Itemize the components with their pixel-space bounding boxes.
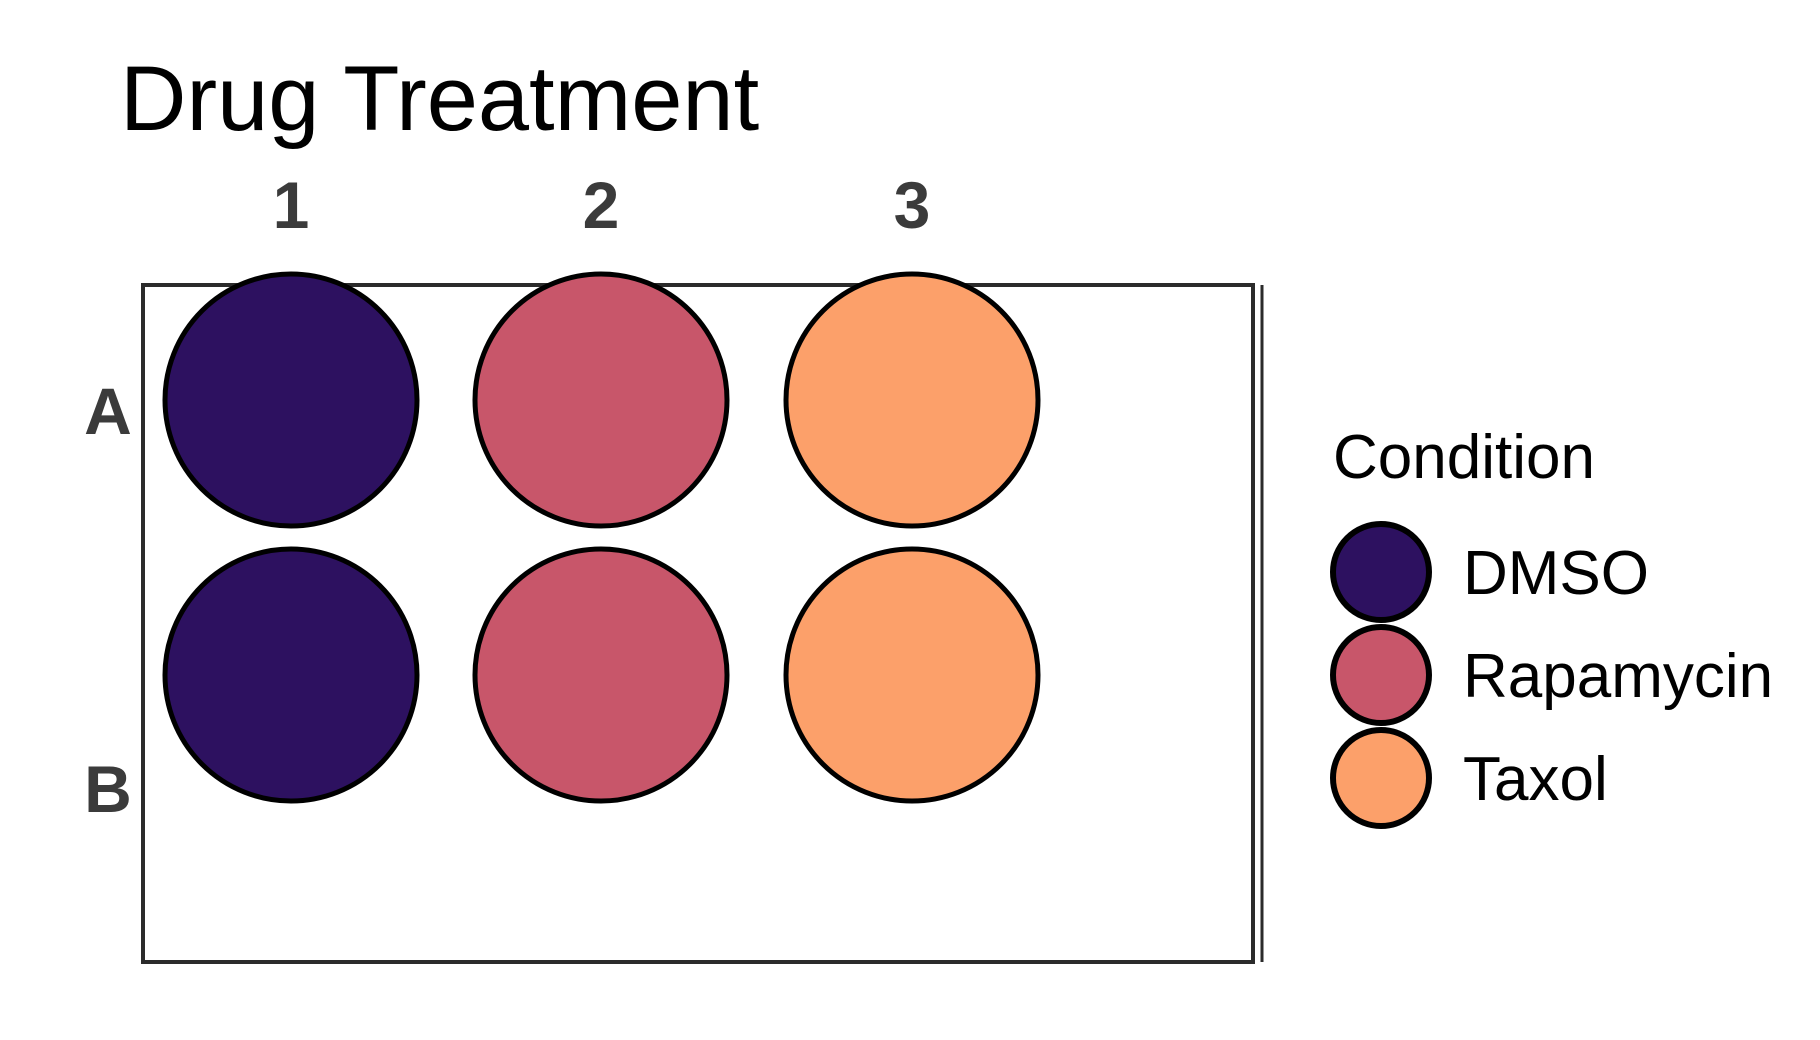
legend-item-rapamycin[interactable]: Rapamycin xyxy=(1333,627,1773,723)
plate-map-plot: Drug Treatment 1 2 3 A B Condition DMSO xyxy=(0,0,1820,1040)
legend-label-rapamycin: Rapamycin xyxy=(1463,642,1773,711)
well-a3[interactable] xyxy=(786,274,1038,526)
legend-item-taxol[interactable]: Taxol xyxy=(1333,730,1608,826)
legend-swatch-dmso xyxy=(1333,524,1429,620)
row-header-a: A xyxy=(84,374,132,448)
well-b1[interactable] xyxy=(165,549,417,801)
well-a1[interactable] xyxy=(165,274,417,526)
column-header-3: 3 xyxy=(894,168,931,242)
column-header-1: 1 xyxy=(273,168,310,242)
legend-swatch-rapamycin xyxy=(1333,627,1429,723)
row-header-b: B xyxy=(84,752,132,826)
well-b2[interactable] xyxy=(475,549,727,801)
column-header-2: 2 xyxy=(583,168,620,242)
legend-swatch-taxol xyxy=(1333,730,1429,826)
legend-title: Condition xyxy=(1333,423,1595,492)
legend-item-dmso[interactable]: DMSO xyxy=(1333,524,1649,620)
well-b3[interactable] xyxy=(786,549,1038,801)
legend-label-taxol: Taxol xyxy=(1463,745,1608,814)
page-title: Drug Treatment xyxy=(120,48,759,150)
legend-label-dmso: DMSO xyxy=(1463,539,1649,608)
plate-map-figure: Drug Treatment 1 2 3 A B Condition DMSO xyxy=(0,0,1820,1040)
well-a2[interactable] xyxy=(475,274,727,526)
